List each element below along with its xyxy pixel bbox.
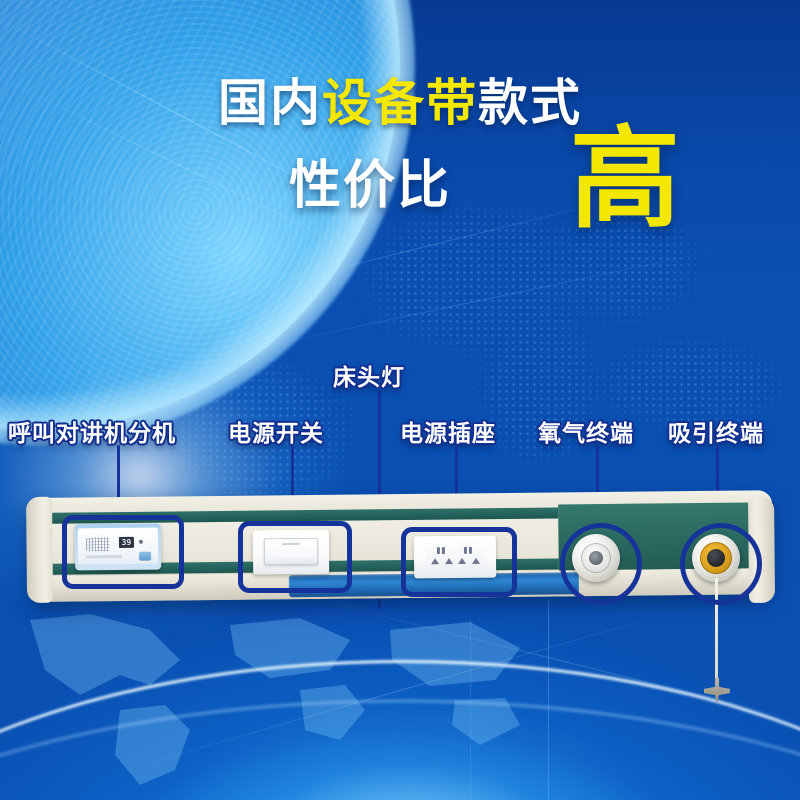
headline-block: 国内设备带款式 性价比 高 — [0, 78, 800, 264]
highlight-box-intercom — [62, 515, 184, 589]
callout-label-bed-lamp: 床头灯 — [333, 358, 405, 392]
headline-part-2-highlight: 设备带 — [322, 74, 478, 132]
headline-line-2-row: 性价比 高 — [0, 154, 800, 264]
headline-emphasis-gao: 高 — [570, 124, 680, 234]
callout-label-power-socket: 电源插座 — [400, 414, 496, 448]
headline-part-3: 款式 — [478, 74, 582, 132]
highlight-box-power-switch — [238, 521, 352, 593]
headline-line-2: 性价比 — [289, 160, 451, 212]
bottom-horizon-glow — [130, 690, 690, 800]
bhu-end-cap-left — [26, 497, 53, 603]
highlight-box-power-socket — [401, 527, 517, 597]
headline-line-1: 国内设备带款式 — [0, 78, 800, 128]
callout-label-intercom: 呼叫对讲机分机 — [8, 414, 176, 448]
highlight-circle-suction — [680, 523, 762, 605]
callout-label-suction-outlet: 吸引终端 — [668, 414, 764, 448]
callout-label-oxygen-outlet: 氧气终端 — [538, 414, 634, 448]
callout-label-power-switch: 电源开关 — [228, 414, 324, 448]
highlight-circle-oxygen — [560, 523, 642, 605]
headline-part-1: 国内 — [218, 74, 322, 132]
product-banner: 国内设备带款式 性价比 高 呼叫对讲机分机 电源开关 床头灯 电源插座 氧气终端… — [0, 0, 800, 800]
